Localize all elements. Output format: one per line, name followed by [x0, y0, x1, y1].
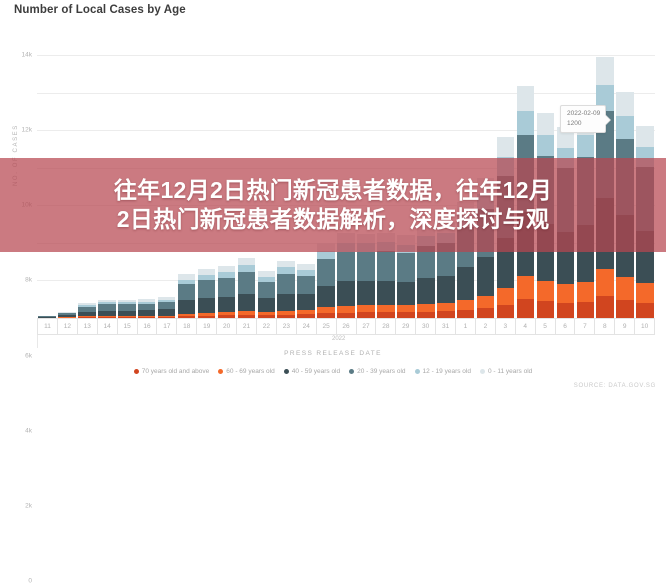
bar-segment[interactable]	[457, 300, 475, 310]
x-axis-tick-label: 24	[297, 318, 317, 335]
bar-segment[interactable]	[437, 303, 455, 311]
bar-segment[interactable]	[337, 281, 355, 305]
bar-segment[interactable]	[138, 304, 156, 311]
y-axis-tick-label: 12k	[22, 127, 32, 134]
legend-swatch-icon	[284, 369, 289, 374]
bar-segment[interactable]	[577, 302, 595, 318]
bar-segment[interactable]	[238, 265, 256, 272]
bar-segment[interactable]	[317, 259, 335, 285]
bar-segment[interactable]	[596, 269, 614, 296]
legend-label: 40 - 59 years old	[292, 368, 340, 375]
bar-segment[interactable]	[457, 310, 475, 318]
page-title: Number of Local Cases by Age	[14, 4, 186, 16]
bar-segment[interactable]	[557, 303, 575, 318]
legend-item[interactable]: 60 - 69 years old	[218, 368, 274, 375]
y-axis-tick-label: 0	[28, 578, 32, 585]
x-axis-tick-label: 29	[396, 318, 416, 335]
legend-label: 20 - 39 years old	[357, 368, 405, 375]
bar-segment[interactable]	[397, 282, 415, 305]
x-axis-tick-label: 10	[635, 318, 655, 335]
legend-item[interactable]: 40 - 59 years old	[284, 368, 340, 375]
x-axis-tick-label: 3	[496, 318, 516, 335]
legend-label: 60 - 69 years old	[226, 368, 274, 375]
bar-segment[interactable]	[277, 294, 295, 311]
bar-segment[interactable]	[258, 298, 276, 312]
bar-segment[interactable]	[517, 276, 535, 299]
bar-segment[interactable]	[238, 258, 256, 265]
x-axis-title: PRESS RELEASE DATE	[0, 350, 666, 357]
x-axis-tick-label: 27	[357, 318, 377, 335]
bar-segment[interactable]	[517, 299, 535, 318]
overlay-headline-line1: 往年12月2日热门新冠患者数据，往年12月	[114, 176, 552, 205]
bar-segment[interactable]	[198, 298, 216, 313]
bar-segment[interactable]	[497, 137, 515, 157]
x-axis-tick-label: 25	[317, 318, 337, 335]
x-axis-tick-label: 17	[157, 318, 177, 335]
x-axis-tick-label: 12	[58, 318, 78, 335]
bar-segment[interactable]	[616, 116, 634, 139]
x-axis-tick-label: 30	[416, 318, 436, 335]
bar-segment[interactable]	[577, 135, 595, 156]
bar-segment[interactable]	[616, 277, 634, 300]
bar-segment[interactable]	[397, 305, 415, 312]
x-axis-tick-label: 6	[556, 318, 576, 335]
x-axis-tick-label: 31	[436, 318, 456, 335]
bar-segment[interactable]	[357, 305, 375, 312]
y-axis-tick-label: 14k	[22, 52, 32, 59]
bar-segment[interactable]	[297, 294, 315, 309]
overlay-headline-line2: 2日热门新冠患者数据解析，深度探讨与观	[117, 205, 550, 234]
bar-segment[interactable]	[596, 296, 614, 318]
legend: 70 years old and above60 - 69 years old4…	[0, 368, 666, 375]
x-axis-tick-label: 4	[516, 318, 536, 335]
bar-segment[interactable]	[357, 281, 375, 305]
bar-segment[interactable]	[537, 301, 555, 318]
bar-segment[interactable]	[377, 305, 395, 312]
bar-segment[interactable]	[377, 251, 395, 281]
bar-segment[interactable]	[537, 135, 555, 156]
bar-segment[interactable]	[636, 303, 654, 318]
legend-swatch-icon	[134, 369, 139, 374]
bar-segment[interactable]	[317, 286, 335, 308]
bar-segment[interactable]	[158, 302, 176, 310]
bar-segment[interactable]	[178, 300, 196, 313]
legend-swatch-icon	[480, 369, 485, 374]
bar-segment[interactable]	[297, 276, 315, 295]
x-axis-tick-label: 14	[98, 318, 118, 335]
bar-segment[interactable]	[218, 278, 236, 297]
x-axis-tick-label: 5	[536, 318, 556, 335]
x-axis-tick-label: 28	[376, 318, 396, 335]
bar-segment[interactable]	[258, 282, 276, 299]
x-axis-tick-label: 2	[476, 318, 496, 335]
x-axis-tick-label: 1	[456, 318, 476, 335]
bar-segment[interactable]	[537, 281, 555, 302]
x-axis-tick-label: 22	[257, 318, 277, 335]
data-tooltip: 2022-02-09 1200	[560, 105, 606, 133]
bar-segment[interactable]	[497, 305, 515, 318]
legend-swatch-icon	[218, 369, 223, 374]
x-axis-tick-label: 19	[197, 318, 217, 335]
tooltip-value: 1200	[567, 119, 600, 129]
x-axis-tick-label: 8	[595, 318, 615, 335]
legend-label: 0 - 11 years old	[488, 368, 532, 375]
tooltip-date: 2022-02-09	[567, 109, 600, 119]
legend-label: 70 years old and above	[142, 368, 210, 375]
bar-segment[interactable]	[417, 304, 435, 312]
legend-swatch-icon	[349, 369, 354, 374]
bar-segment[interactable]	[218, 297, 236, 312]
legend-item[interactable]: 70 years old and above	[134, 368, 210, 375]
bar-segment[interactable]	[477, 296, 495, 308]
y-axis-tick-label: 2k	[25, 502, 32, 509]
bar-segment[interactable]	[198, 280, 216, 298]
legend-label: 12 - 19 years old	[423, 368, 471, 375]
bar-segment[interactable]	[517, 86, 535, 111]
overlay-banner: 往年12月2日热门新冠患者数据，往年12月 2日热门新冠患者数据解析，深度探讨与…	[0, 158, 666, 252]
bar-segment[interactable]	[477, 308, 495, 318]
x-axis-ticks: 1112131415161718192021222324252627282930…	[37, 318, 655, 335]
y-axis-tick-label: 4k	[25, 427, 32, 434]
bar-segment[interactable]	[397, 253, 415, 282]
y-axis-tick-label: 8k	[25, 277, 32, 284]
legend-item[interactable]: 12 - 19 years old	[415, 368, 471, 375]
x-axis-tick-label: 23	[277, 318, 297, 335]
bar-segment[interactable]	[178, 284, 196, 300]
bar-segment[interactable]	[277, 274, 295, 294]
bar-segment[interactable]	[596, 57, 614, 85]
bar-segment[interactable]	[457, 267, 475, 300]
bar-segment[interactable]	[337, 252, 355, 282]
bar-segment[interactable]	[636, 126, 654, 147]
legend-item[interactable]: 20 - 39 years old	[349, 368, 405, 375]
x-axis-tick-label: 21	[237, 318, 257, 335]
chart-page: Number of Local Cases by Age NO. OF CASE…	[0, 0, 666, 400]
x-axis-tick-label: 15	[118, 318, 138, 335]
bar-segment[interactable]	[377, 281, 395, 305]
bar-segment[interactable]	[417, 278, 435, 304]
bar-segment[interactable]	[337, 306, 355, 313]
bar-segment[interactable]	[577, 282, 595, 302]
x-axis-tick-label: 16	[138, 318, 158, 335]
x-axis-tick-label: 26	[337, 318, 357, 335]
legend-swatch-icon	[415, 369, 420, 374]
bar-segment[interactable]	[557, 284, 575, 303]
bar-segment[interactable]	[437, 276, 455, 303]
bar-segment[interactable]	[616, 92, 634, 116]
bar-segment[interactable]	[517, 111, 535, 135]
x-axis-tick-label: 9	[615, 318, 635, 335]
bar-segment[interactable]	[238, 294, 256, 312]
bar-segment[interactable]	[497, 288, 515, 305]
legend-item[interactable]: 0 - 11 years old	[480, 368, 532, 375]
x-axis-tick-label: 11	[38, 318, 58, 335]
bar-segment[interactable]	[616, 300, 634, 318]
bar-segment[interactable]	[636, 283, 654, 302]
bar-segment[interactable]	[357, 252, 375, 281]
source-label: SOURCE: DATA.GOV.SG	[574, 383, 656, 389]
bar-segment[interactable]	[537, 113, 555, 135]
year-label: 2022	[332, 336, 345, 342]
bar-segment[interactable]	[238, 272, 256, 294]
x-axis-tick-label: 7	[575, 318, 595, 335]
bar-segment[interactable]	[477, 257, 495, 296]
year-rule	[37, 335, 655, 348]
x-axis-tick-label: 18	[177, 318, 197, 335]
x-axis-tick-label: 20	[217, 318, 237, 335]
bar-segment[interactable]	[317, 251, 335, 259]
x-axis-tick-label: 13	[78, 318, 98, 335]
